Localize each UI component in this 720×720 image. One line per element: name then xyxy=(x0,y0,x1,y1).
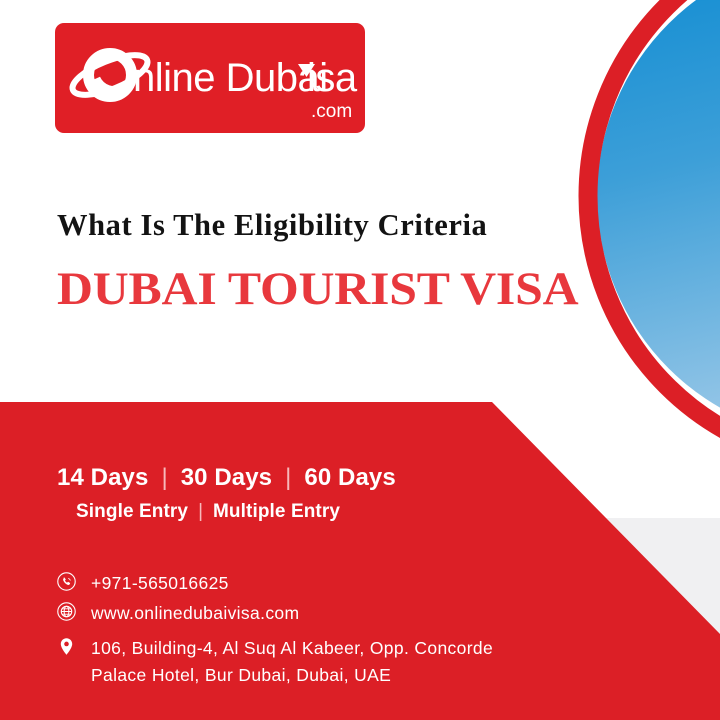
logo-text-visa: isa xyxy=(307,56,358,100)
logo-block[interactable]: nline Dubai isa .com xyxy=(55,23,365,133)
contact-row-phone[interactable]: +971-565016625 xyxy=(57,570,229,597)
entry-separator: | xyxy=(198,501,203,523)
red-banner-content: 14 Days | 30 Days | 60 Days Single Entry… xyxy=(0,400,720,720)
heading-subtitle: What Is The Eligibility Criteria xyxy=(57,208,487,243)
contact-row-website[interactable]: www.onlinedubaivisa.com xyxy=(57,600,299,627)
duration-option-60: 60 Days xyxy=(304,464,395,492)
contact-row-address: 106, Building-4, Al Suq Al Kabeer, Opp. … xyxy=(57,635,493,689)
logo-wordmark: nline Dubai isa .com xyxy=(55,23,365,133)
logo-text-main: nline Dubai xyxy=(133,56,328,100)
location-pin-icon xyxy=(57,637,76,656)
entry-option-multiple: Multiple Entry xyxy=(213,501,340,523)
duration-options: 14 Days | 30 Days | 60 Days xyxy=(57,464,396,492)
address-text: 106, Building-4, Al Suq Al Kabeer, Opp. … xyxy=(91,635,493,689)
duration-separator-1: | xyxy=(161,464,167,492)
page-title: DUBAI TOURIST VISA xyxy=(57,262,578,316)
visa-promo-poster: nline Dubai isa .com What Is The Eligibi… xyxy=(0,0,720,720)
duration-option-30: 30 Days xyxy=(181,464,272,492)
entry-option-single: Single Entry xyxy=(76,501,188,523)
phone-icon xyxy=(57,572,76,591)
website-url: www.onlinedubaivisa.com xyxy=(91,600,299,627)
logo-text-tld: .com xyxy=(311,101,352,122)
phone-number: +971-565016625 xyxy=(91,570,229,597)
globe-icon xyxy=(57,602,76,621)
entry-options: Single Entry | Multiple Entry xyxy=(76,501,340,523)
duration-option-14: 14 Days xyxy=(57,464,148,492)
duration-separator-2: | xyxy=(285,464,291,492)
